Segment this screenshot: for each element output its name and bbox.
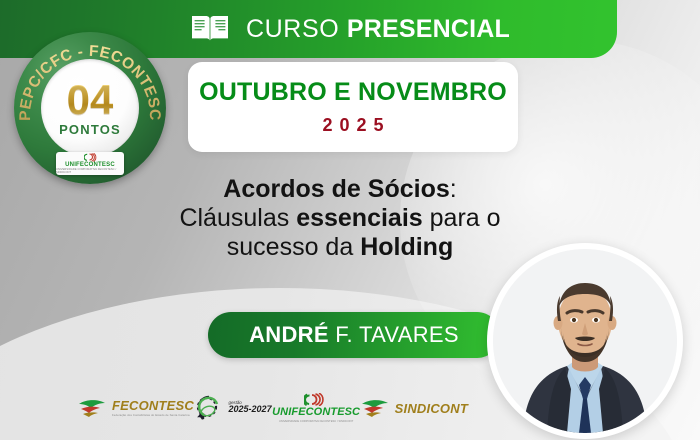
speaker-name: ANDRÉ F. TAVARES [249, 322, 459, 348]
speaker-photo-frame [487, 243, 683, 439]
course-title-line-3-a: sucesso da [227, 233, 360, 261]
unifecontesc-logo-word: UNIFECONTESC [272, 407, 360, 418]
fecontesc-logo: FECONTESC Federação dos Contabilistas do… [78, 397, 194, 419]
badge-tab-label: UNIFECONTESC [65, 162, 115, 168]
unifecontesc-mark-icon [84, 153, 97, 162]
badge-center: 04 PONTOS [41, 59, 139, 157]
badge-tab-sub: UNIVERSIDADE CORPORATIVA FECONTESC / SIN… [56, 169, 124, 174]
unifecontesc-logo-sub: UNIVERSIDADE CORPORATIVA FECONTESC / SIN… [279, 421, 353, 424]
points-badge: PEPC/CFC - FECONTESC 04 PONTOS UNIFECONT… [14, 32, 166, 184]
speaker-last-name: F. TAVARES [329, 322, 459, 347]
badge-unit-label: PONTOS [59, 122, 121, 137]
course-title-line-2-bold: essenciais [296, 204, 423, 232]
badge-number: 04 [67, 81, 114, 120]
fecontesc-mark-icon [78, 397, 108, 419]
gestao-seal-logo: gestão 2025-2027 [195, 395, 272, 421]
header-title: CURSO PRESENCIAL [246, 15, 510, 44]
speaker-first-name: ANDRÉ [249, 322, 329, 347]
gestao-gear-icon [195, 395, 225, 421]
course-title-line-2: Cláusulas essenciais para o [120, 204, 560, 233]
course-title: Acordos de Sócios: Cláusulas essenciais … [120, 175, 560, 262]
sindicont-logo: SINDICONT [361, 397, 468, 419]
course-title-line-1: Acordos de Sócios: [120, 175, 560, 204]
partner-logos: FECONTESC Federação dos Contabilistas do… [78, 386, 468, 430]
unifecontesc-logo: UNIFECONTESC UNIVERSIDADE CORPORATIVA FE… [272, 393, 360, 424]
sindicont-mark-icon [361, 397, 391, 419]
header-title-light: CURSO [246, 15, 339, 43]
date-year: 2025 [315, 116, 390, 134]
course-title-line-3: sucesso da Holding [120, 233, 560, 262]
date-card: OUTUBRO E NOVEMBRO 2025 [188, 62, 518, 152]
unifecontesc-signal-icon [304, 393, 328, 406]
course-title-line-2-a: Cláusulas [179, 204, 296, 232]
event-banner: CURSO PRESENCIAL OUTUBRO E NOVEMBRO 2025… [0, 0, 700, 440]
gestao-logo-word: 2025-2027 [229, 405, 272, 414]
course-title-line-2-b: para o [423, 204, 501, 232]
open-book-icon [190, 13, 230, 45]
fecontesc-logo-sub: Federação dos Contabilistas do Estado de… [112, 414, 194, 417]
course-title-line-1-bold: Acordos de Sócios [223, 175, 449, 203]
date-months: OUTUBRO E NOVEMBRO [199, 80, 507, 105]
header-title-bold: PRESENCIAL [347, 15, 510, 43]
course-title-line-3-bold: Holding [360, 233, 453, 261]
fecontesc-logo-word: FECONTESC [112, 399, 194, 412]
course-title-line-1-suffix: : [450, 175, 457, 203]
badge-unifecontesc-tab: UNIFECONTESC UNIVERSIDADE CORPORATIVA FE… [56, 152, 124, 175]
speaker-name-pill: ANDRÉ F. TAVARES [208, 312, 500, 358]
speaker-photo [493, 249, 677, 433]
sindicont-logo-word: SINDICONT [395, 402, 468, 415]
